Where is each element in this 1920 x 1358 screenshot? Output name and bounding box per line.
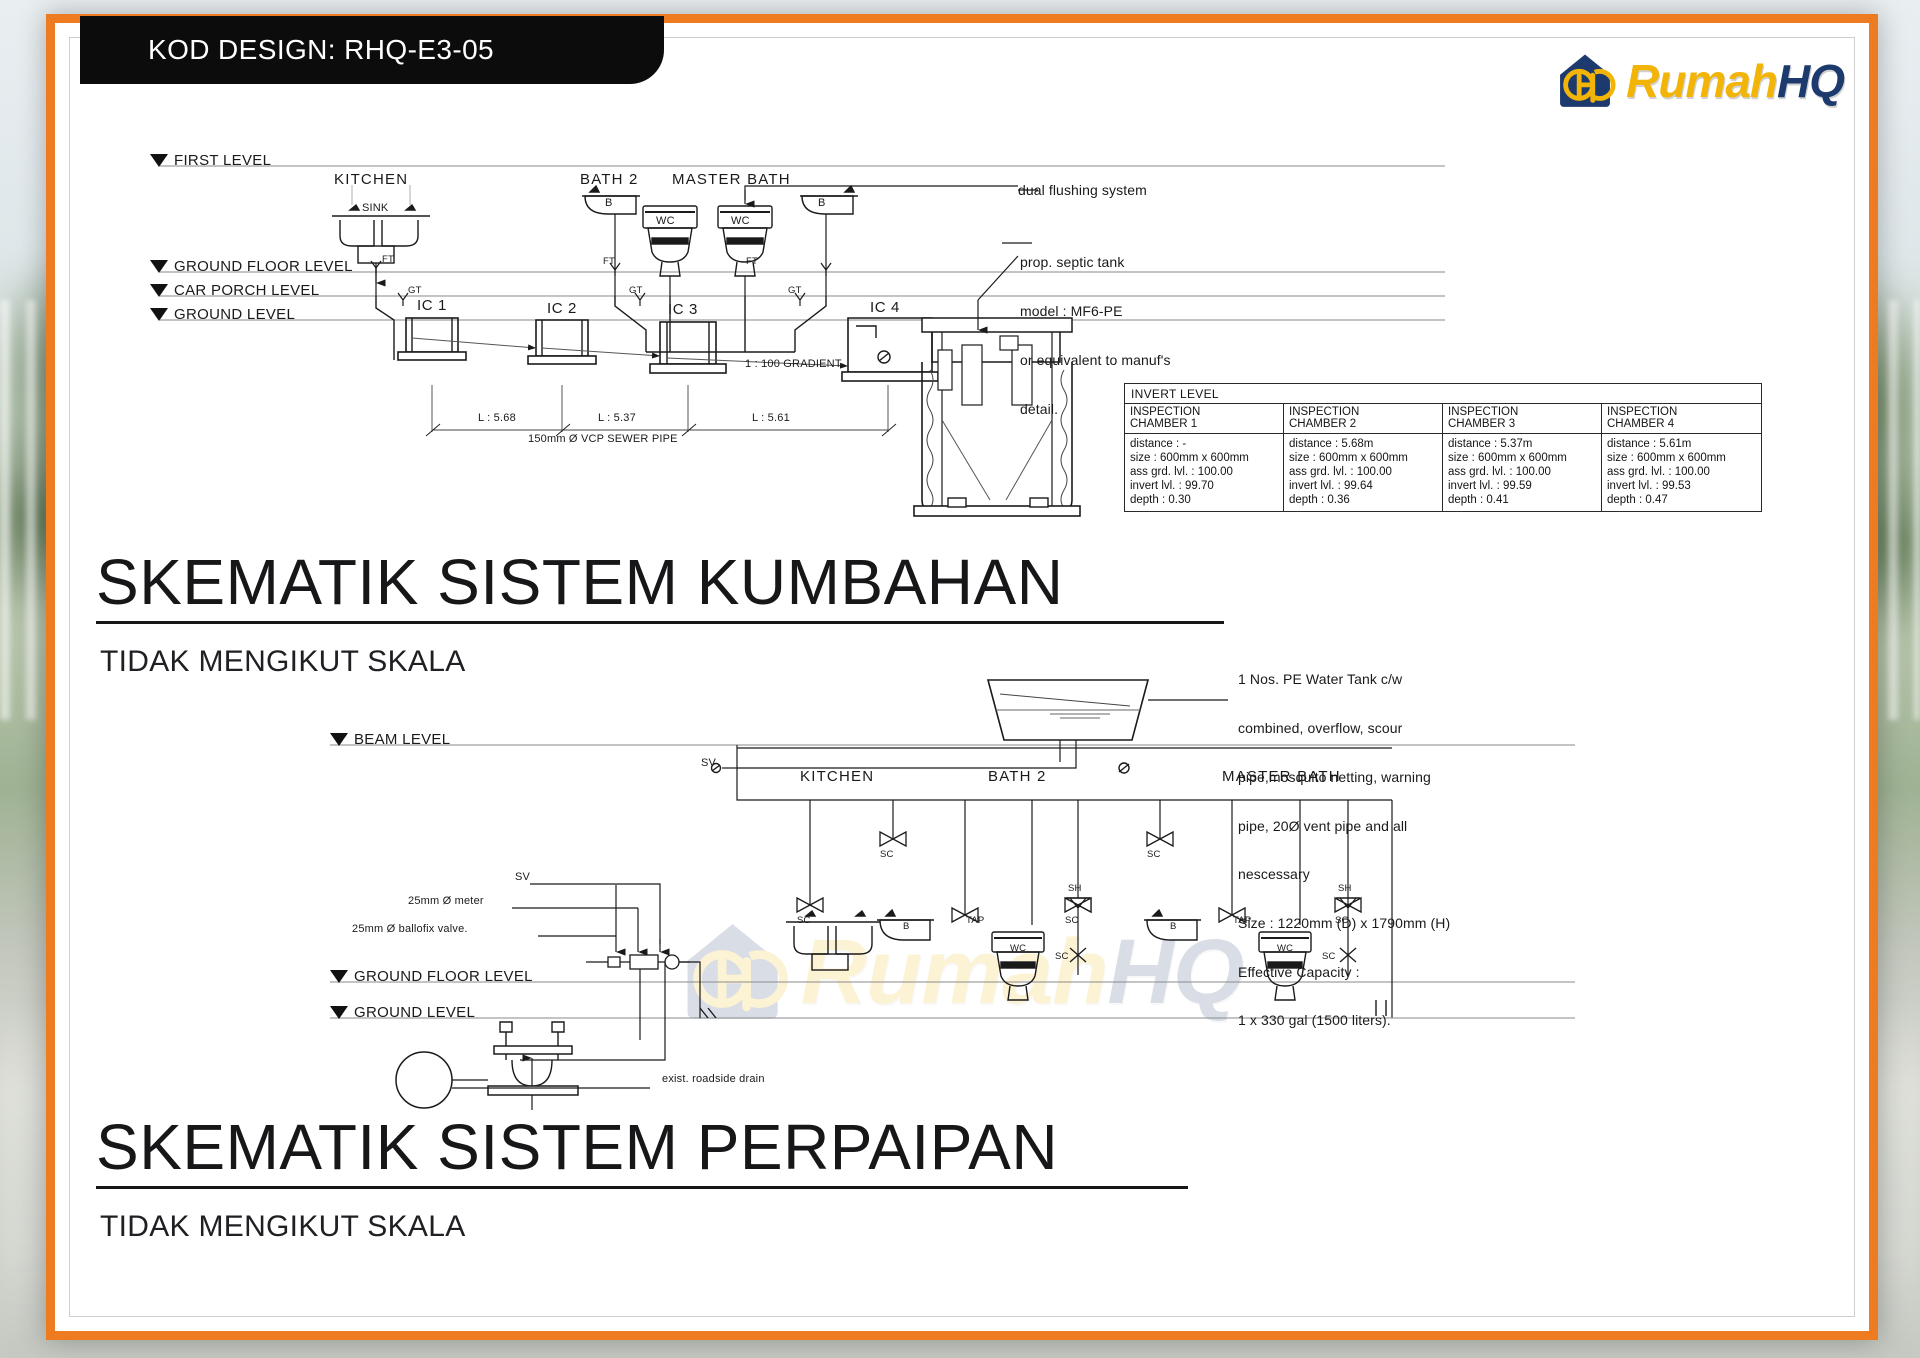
sewer-level-ground: GROUND LEVEL [150,306,295,323]
chamber-body: distance : 5.37m size : 600mm x 600mm as… [1443,434,1601,511]
sewer-fixture-basin-master: B [818,198,826,210]
sewer-gradient-note: 1 : 100 GRADIENT [745,359,842,371]
chamber-heading: INSPECTION CHAMBER 3 [1443,404,1601,434]
level-marker-icon [150,260,168,273]
title-underline [96,621,1224,624]
piping-fixture-wc-bath2: WC [1010,944,1026,954]
piping-callout-meter: 25mm Ø meter [408,896,484,908]
sewer-dimension-2: L : 5.37 [598,413,636,425]
chamber-heading: INSPECTION CHAMBER 2 [1284,404,1442,434]
brand-word-rumah: Rumah [1626,58,1777,104]
piping-drain-note: exist. roadside drain [662,1074,765,1086]
chamber-head-line1: INSPECTION [1607,406,1756,418]
sewer-level-label: GROUND LEVEL [174,306,295,323]
piping-level-ground: GROUND LEVEL [330,1004,475,1021]
invert-table-column: INSPECTION CHAMBER 2 distance : 5.68m si… [1284,404,1443,511]
piping-valve-sc-3: SC [797,916,811,926]
septic-note-line3: or equivalent to manuf's [1020,352,1171,368]
chamber-distance: distance : 5.61m [1607,437,1756,451]
sewer-level-ground-floor: GROUND FLOOR LEVEL [150,258,353,275]
sewer-chamber-ic1: IC 1 [417,298,447,314]
brand-wordmark: RumahHQ [1626,58,1844,104]
level-marker-icon [150,308,168,321]
piping-title-text: SKEMATIK SISTEM PERPAIPAN [96,1111,1058,1183]
piping-level-label: BEAM LEVEL [354,731,450,748]
piping-sv-riser-label: SV [701,758,716,770]
sewer-trap-ft-2: FT [603,257,615,267]
brand-logo: RumahHQ [1554,50,1844,112]
piping-valve-sc-6: SC [1055,952,1069,962]
sewer-trap-gt-2: GT [629,286,643,296]
piping-room-kitchen: KITCHEN [800,769,874,785]
title-underline [96,1186,1188,1189]
chamber-ass-grd: ass grd. lvl. : 100.00 [1448,465,1596,479]
chamber-distance: distance : 5.68m [1289,437,1437,451]
piping-diagram-title: SKEMATIK SISTEM PERPAIPAN [96,1110,1188,1189]
sewer-diagram-title: SKEMATIK SISTEM KUMBAHAN [96,545,1224,624]
chamber-head-line1: INSPECTION [1130,406,1278,418]
chamber-invert: invert lvl. : 99.70 [1130,479,1278,493]
chamber-size: size : 600mm x 600mm [1448,451,1596,465]
sewer-level-label: CAR PORCH LEVEL [174,282,319,299]
level-marker-icon [330,970,348,983]
chamber-head-line2: CHAMBER 3 [1448,418,1596,430]
piping-callout-sv: SV [515,872,530,884]
sewer-trap-ft-3: FT [746,257,758,267]
sewer-chamber-ic3: IC 3 [668,302,698,318]
piping-level-ground-floor: GROUND FLOOR LEVEL [330,968,533,985]
invert-table-column: INSPECTION CHAMBER 3 distance : 5.37m si… [1443,404,1602,511]
sewer-fixture-wc-master: WC [731,216,750,228]
chamber-depth: depth : 0.36 [1289,493,1437,507]
piping-room-bath2: BATH 2 [988,769,1047,785]
chamber-ass-grd: ass grd. lvl. : 100.00 [1289,465,1437,479]
chamber-body: distance : 5.61m size : 600mm x 600mm as… [1602,434,1761,511]
kod-design-banner: KOD DESIGN: RHQ-E3-05 [80,16,664,84]
sewer-trap-gt-1: GT [408,286,422,296]
chamber-depth: depth : 0.41 [1448,493,1596,507]
chamber-size: size : 600mm x 600mm [1130,451,1278,465]
piping-level-beam: BEAM LEVEL [330,731,450,748]
piping-tank-annotation: 1 Nos. PE Water Tank c/w combined, overf… [1238,639,1450,1045]
tank-note-line-6: Size : 1220mm (D) x 1790mm (H) [1238,915,1450,931]
tank-note-line-3: pipe,mosquito netting, warning [1238,769,1450,785]
level-marker-icon [150,284,168,297]
invert-table-column: INSPECTION CHAMBER 4 distance : 5.61m si… [1602,404,1761,511]
sewer-level-first: FIRST LEVEL [150,152,271,169]
chamber-body: distance : 5.68m size : 600mm x 600mm as… [1284,434,1442,511]
piping-valve-sc-2: SC [1147,850,1161,860]
piping-diagram-subtitle: TIDAK MENGIKUT SKALA [100,1210,466,1244]
sewer-chamber-ic4: IC 4 [870,300,900,316]
tank-note-line-7: Effective Capacity : [1238,964,1450,980]
chamber-ass-grd: ass grd. lvl. : 100.00 [1607,465,1756,479]
invert-level-table: INVERT LEVEL INSPECTION CHAMBER 1 distan… [1124,383,1762,512]
chamber-head-line2: CHAMBER 2 [1289,418,1437,430]
chamber-distance: distance : 5.37m [1448,437,1596,451]
tank-note-line-8: 1 x 330 gal (1500 liters). [1238,1012,1450,1028]
chamber-depth: depth : 0.47 [1607,493,1756,507]
sewer-level-car-porch: CAR PORCH LEVEL [150,282,319,299]
tank-note-line-1: 1 Nos. PE Water Tank c/w [1238,671,1450,687]
piping-fixture-basin-bath2: B [903,922,910,932]
brand-word-hq: HQ [1777,58,1844,104]
invert-table-title: INVERT LEVEL [1125,384,1761,404]
tank-note-line-5: nescessary [1238,866,1450,882]
sewer-trap-gt-3: GT [788,286,802,296]
chamber-heading: INSPECTION CHAMBER 1 [1125,404,1283,434]
chamber-body: distance : - size : 600mm x 600mm ass gr… [1125,434,1283,511]
septic-model-value: MF6-PE [1071,303,1123,319]
chamber-ass-grd: ass grd. lvl. : 100.00 [1130,465,1278,479]
tank-note-line-2: combined, overflow, scour [1238,720,1450,736]
sewer-room-bath2: BATH 2 [580,172,639,188]
invert-table-column: INSPECTION CHAMBER 1 distance : - size :… [1125,404,1284,511]
kod-design-label: KOD DESIGN: RHQ-E3-05 [148,34,494,66]
sewer-diagram-subtitle: TIDAK MENGIKUT SKALA [100,645,466,679]
chamber-heading: INSPECTION CHAMBER 4 [1602,404,1761,434]
sewer-room-kitchen: KITCHEN [334,172,408,188]
septic-note-line1: prop. septic tank [1020,254,1171,270]
sewer-room-master-bath: MASTER BATH [672,172,791,188]
chamber-invert: invert lvl. : 99.64 [1289,479,1437,493]
level-marker-icon [330,733,348,746]
chamber-head-line1: INSPECTION [1448,406,1596,418]
sewer-level-label: GROUND FLOOR LEVEL [174,258,353,275]
piping-level-label: GROUND FLOOR LEVEL [354,968,533,985]
chamber-size: size : 600mm x 600mm [1289,451,1437,465]
piping-valve-sc-1: SC [880,850,894,860]
chamber-invert: invert lvl. : 99.59 [1448,479,1596,493]
sewer-trap-ft-1: FT [382,255,394,265]
chamber-distance: distance : - [1130,437,1278,451]
chamber-size: size : 600mm x 600mm [1607,451,1756,465]
septic-model-label: model : [1020,303,1071,319]
sewer-level-label: FIRST LEVEL [174,152,271,169]
piping-callout-ballofix: 25mm Ø ballofix valve. [352,924,468,936]
sewer-title-text: SKEMATIK SISTEM KUMBAHAN [96,546,1063,618]
chamber-head-line1: INSPECTION [1289,406,1437,418]
sewer-fixture-wc-bath2: WC [656,216,675,228]
level-marker-icon [150,154,168,167]
piping-fixture-basin-master: B [1170,922,1177,932]
sewer-dimension-3: L : 5.61 [752,413,790,425]
level-marker-icon [330,1006,348,1019]
septic-note-line2: model : MF6-PE [1020,303,1171,319]
sewer-fixture-basin-bath2: B [605,198,613,210]
piping-valve-sc-4: SC [1065,916,1079,926]
chamber-head-line2: CHAMBER 1 [1130,418,1278,430]
chamber-head-line2: CHAMBER 4 [1607,418,1756,430]
sewer-fixture-sink: SINK [362,203,388,215]
piping-fixture-tap-bath2: TAP [966,916,984,926]
sewer-pipe-note: 150mm Ø VCP SEWER PIPE [528,434,678,446]
piping-level-label: GROUND LEVEL [354,1004,475,1021]
rumahhq-house-icon [1554,50,1616,112]
tank-note-line-4: pipe, 20Ø vent pipe and all [1238,818,1450,834]
sewer-annotation-dual-flush: dual flushing system [1018,182,1147,198]
chamber-invert: invert lvl. : 99.53 [1607,479,1756,493]
sewer-chamber-ic2: IC 2 [547,301,577,317]
chamber-depth: depth : 0.30 [1130,493,1278,507]
piping-fixture-shower-bath2: SH [1068,884,1082,894]
sewer-dimension-1: L : 5.68 [478,413,516,425]
